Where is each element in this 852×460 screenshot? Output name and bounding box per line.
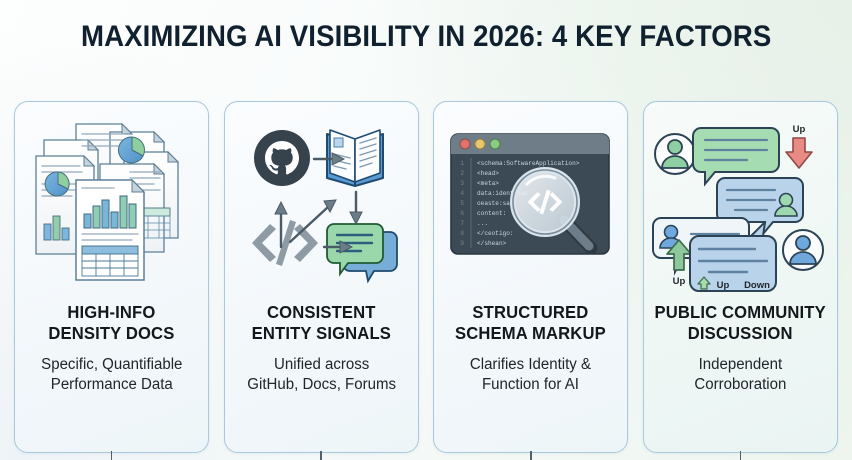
code-line-number: 9 <box>461 240 465 247</box>
card-subtitle-line2: Performance Data <box>50 376 172 393</box>
card-connector-stub <box>320 451 322 460</box>
card-connector-stub <box>111 451 113 460</box>
vote-label-up-bottom: Up <box>673 276 686 287</box>
card-heading-line2: ENTITY SIGNALS <box>251 323 390 343</box>
factor-card-high-info-density-docs[interactable]: HIGH-INFO DENSITY DOCS Specific, Quantif… <box>14 101 209 453</box>
card-heading-line2: SCHEMA MARKUP <box>455 323 606 343</box>
card-connector-stub <box>740 451 742 460</box>
card-heading-line1: HIGH-INFO <box>67 302 155 322</box>
card-subtitle-line2: Corroboration <box>694 376 786 393</box>
card-subtitle-line2: GitHub, Docs, Forums <box>247 376 396 393</box>
card-heading-line1: STRUCTURED <box>473 302 589 322</box>
card-heading-line1: PUBLIC COMMUNITY <box>655 302 826 322</box>
card-subtitle-line1: Clarifies Identity & <box>470 356 591 373</box>
speech-bubbles-icon <box>327 224 397 281</box>
page-title-text: MAXIMIZING AI VISIBILITY IN 2026: 4 KEY … <box>81 20 771 54</box>
window-traffic-lights <box>460 139 500 149</box>
card-subtitle-line1: Unified across <box>274 356 369 373</box>
code-line-text: oeaste:sas <box>477 200 514 207</box>
factor-card-row: HIGH-INFO DENSITY DOCS Specific, Quantif… <box>14 101 838 453</box>
card-connector-stub <box>530 451 532 460</box>
infographic-canvas: MAXIMIZING AI VISIBILITY IN 2026: 4 KEY … <box>0 0 852 460</box>
code-line-number: 2 <box>461 170 465 177</box>
card-subtitle-line1: Specific, Quantifiable <box>41 356 182 373</box>
code-line-number: 3 <box>461 180 465 187</box>
code-line-text: ... <box>477 220 488 227</box>
card-subtitle: Specific, Quantifiable Performance Data <box>35 355 188 395</box>
card-heading-line2: DENSITY DOCS <box>48 323 174 343</box>
card-subtitle-line2: Function for AI <box>482 376 579 393</box>
factor-card-structured-schema-markup[interactable]: 1<schema:SoftwareApplication>2 <head>3 <… <box>433 101 628 453</box>
card-heading-line1: CONSISTENT <box>267 302 376 322</box>
avatar-icon-1 <box>655 134 695 174</box>
entity-signals-icon <box>224 102 419 302</box>
code-line-text: </ceotigo: <box>477 230 514 237</box>
card-heading: PUBLIC COMMUNITY DISCUSSION <box>649 302 832 344</box>
vote-label-bubble-up: Up <box>717 280 730 291</box>
page-title: MAXIMIZING AI VISIBILITY IN 2026: 4 KEY … <box>0 20 852 54</box>
code-line-number: 1 <box>461 160 465 167</box>
code-line-number: 8 <box>461 230 465 237</box>
vote-label-bubble-down: Down <box>744 280 770 291</box>
card-subtitle-line1: Independent <box>699 356 783 373</box>
card-subtitle: Unified across GitHub, Docs, Forums <box>241 355 401 395</box>
card-heading-line2: DISCUSSION <box>688 323 793 343</box>
code-line-text: <schema:SoftwareApplication> <box>477 160 580 167</box>
card-heading: CONSISTENT ENTITY SIGNALS <box>246 302 397 344</box>
avatar-icon-2 <box>783 230 823 270</box>
github-icon <box>254 130 310 186</box>
code-line-number: 4 <box>461 190 465 197</box>
vote-label-up-top: Up <box>793 124 806 135</box>
speech-bubble-green <box>693 128 779 184</box>
card-heading: HIGH-INFO DENSITY DOCS <box>43 302 181 344</box>
code-line-text: content: <box>477 210 506 217</box>
vote-indicator-top-right: Up <box>786 124 812 168</box>
card-heading: STRUCTURED SCHEMA MARKUP <box>450 302 612 344</box>
code-line-number: 6 <box>461 210 465 217</box>
code-line-number: 5 <box>461 200 465 207</box>
factor-card-public-community-discussion[interactable]: Up <box>643 101 838 453</box>
code-line-text: </shean> <box>477 240 507 247</box>
schema-code-window-icon: 1<schema:SoftwareApplication>2 <head>3 <… <box>433 102 628 302</box>
document-stack-icon <box>14 102 209 302</box>
factor-card-consistent-entity-signals[interactable]: CONSISTENT ENTITY SIGNALS Unified across… <box>224 101 419 453</box>
card-subtitle: Clarifies Identity & Function for AI <box>464 355 597 395</box>
code-line-text: <meta> <box>477 180 499 187</box>
code-line-text: <head> <box>477 170 499 177</box>
community-discussion-icon: Up <box>643 102 838 302</box>
card-subtitle: Independent Corroboration <box>689 355 793 395</box>
code-line-number: 7 <box>461 220 465 227</box>
